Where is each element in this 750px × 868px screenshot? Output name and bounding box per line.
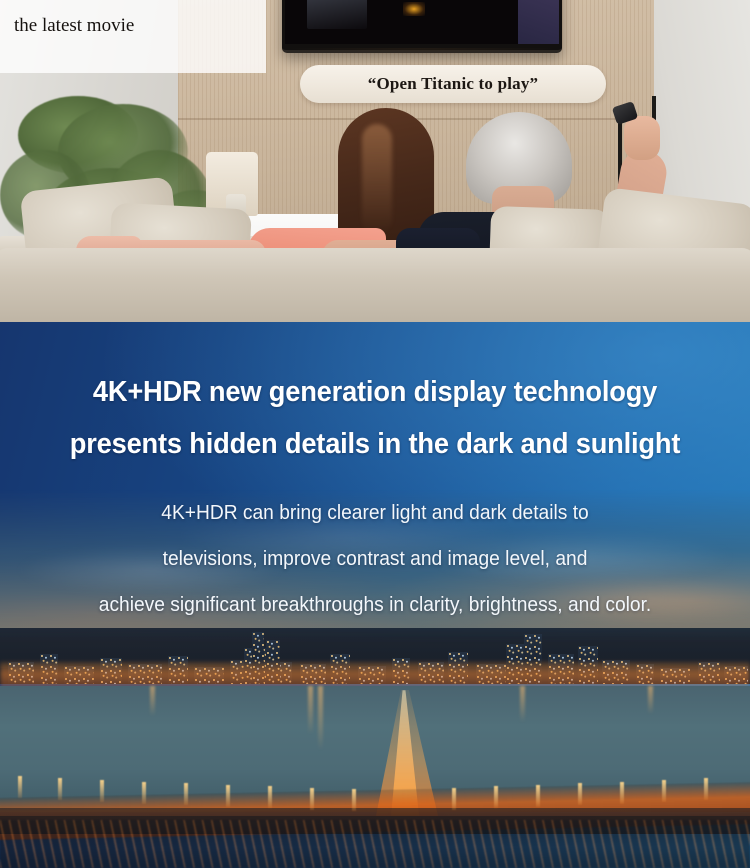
couch-seat <box>0 248 750 322</box>
hdr-headline-line-2: presents hidden details in the dark and … <box>23 418 728 470</box>
caption-line-1: button to recommend <box>14 0 250 9</box>
street-lamp <box>18 776 22 798</box>
tv-screen <box>285 0 559 44</box>
water-reflection <box>648 686 653 714</box>
speech-bubble-text: “Open Titanic to play” <box>368 74 539 94</box>
street-lamp <box>452 788 456 810</box>
tv-scene-highlight <box>307 0 367 29</box>
hdr-text-block: 4K+HDR new generation display technology… <box>0 366 750 628</box>
street-lamp <box>226 785 230 807</box>
water-reflection <box>150 686 155 716</box>
street-lamp <box>536 785 540 807</box>
water-reflection <box>520 686 525 722</box>
caption-line-2: the latest movie <box>14 9 250 42</box>
living-room-scene: “Open Titanic to play” <box>0 0 750 322</box>
street-lamp <box>352 789 356 811</box>
street-lamp <box>620 782 624 804</box>
hdr-body-block: 4K+HDR can bring clearer light and dark … <box>0 490 750 628</box>
hdr-body-line-2: televisions, improve contrast and image … <box>15 536 735 582</box>
tv-scene-shape <box>436 0 518 44</box>
woman-hair-highlight <box>362 124 392 234</box>
street-lamp <box>310 788 314 810</box>
hdr-headline-line-1: 4K+HDR new generation display technology <box>23 366 728 418</box>
street-lamp <box>578 783 582 805</box>
tv-scene-ember <box>403 2 425 16</box>
city-light-glow <box>0 662 750 688</box>
street-lamp <box>58 778 62 800</box>
street-lamp <box>184 783 188 805</box>
foreground-shadow <box>0 816 750 868</box>
street-lamp <box>268 786 272 808</box>
hdr-body-line-1: 4K+HDR can bring clearer light and dark … <box>15 490 735 536</box>
street-lamp <box>494 786 498 808</box>
hdr-body-line-3: achieve significant breakthroughs in cla… <box>15 582 735 628</box>
promo-page: “Open Titanic to play” <box>0 0 750 868</box>
hdr-feature-section: 4K+HDR new generation display technology… <box>0 322 750 868</box>
water-reflection <box>318 686 323 750</box>
street-lamp <box>100 780 104 802</box>
tv-shadow <box>288 48 556 55</box>
street-lamp <box>704 778 708 800</box>
man-hand <box>624 116 660 160</box>
street-lamp <box>662 780 666 802</box>
street-lamp <box>142 782 146 804</box>
speech-bubble: “Open Titanic to play” <box>300 65 606 103</box>
water-reflection <box>308 686 313 734</box>
caption-card: button to recommend the latest movie <box>0 0 266 73</box>
television <box>282 0 562 53</box>
